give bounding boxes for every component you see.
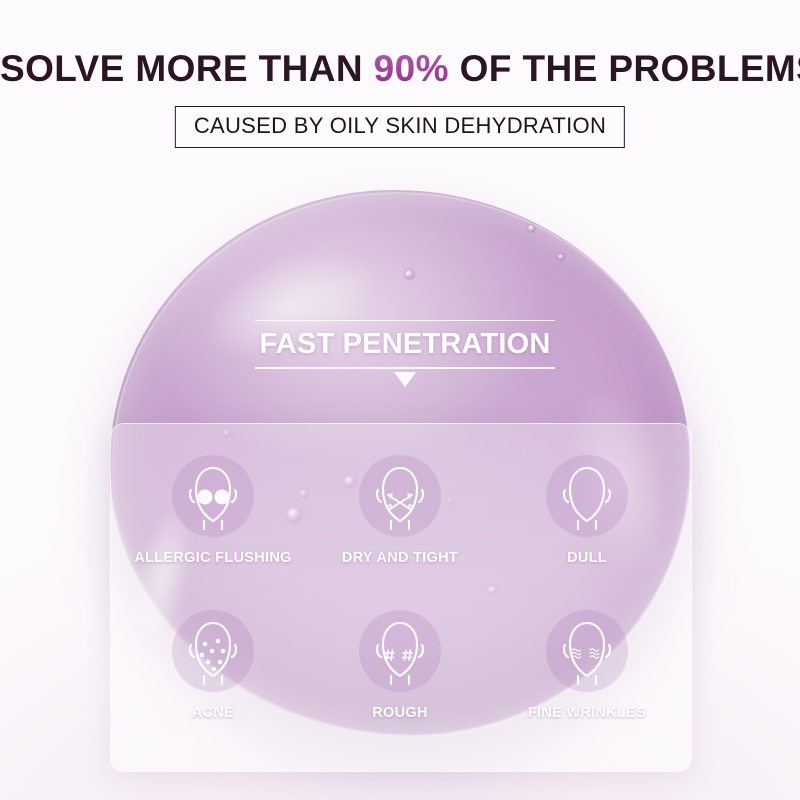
problem-label: ACNE bbox=[128, 705, 298, 721]
banner-label: FAST PENETRATION bbox=[255, 321, 555, 367]
down-triangle-icon bbox=[394, 372, 416, 387]
problem-label: ROUGH bbox=[315, 705, 485, 721]
bubble-icon bbox=[405, 270, 414, 279]
subtitle-text: CAUSED BY OILY SKIN DEHYDRATION bbox=[194, 113, 606, 138]
face-rough-hatch-icon bbox=[359, 610, 441, 692]
problem-label: FINE WRINKLES bbox=[502, 705, 672, 721]
problems-grid: ALLERGIC FLUSHING DRY AND TIGHT bbox=[110, 423, 690, 770]
face-plain-icon bbox=[546, 455, 628, 537]
fast-penetration-banner: FAST PENETRATION bbox=[255, 320, 555, 387]
problem-label: DRY AND TIGHT bbox=[315, 550, 485, 566]
headline-percent-accent: 90% bbox=[374, 48, 449, 89]
face-flushed-cheeks-icon bbox=[172, 455, 254, 537]
bubble-icon bbox=[558, 254, 564, 260]
problem-item-rough[interactable]: ROUGH bbox=[315, 610, 485, 721]
problem-item-dry-and-tight[interactable]: DRY AND TIGHT bbox=[315, 455, 485, 566]
bubble-icon bbox=[528, 225, 535, 232]
promo-canvas: SOLVE MORE THAN 90% OF THE PROBLEMS CAUS… bbox=[0, 0, 800, 800]
problem-item-allergic-flushing[interactable]: ALLERGIC FLUSHING bbox=[128, 455, 298, 566]
headline-prefix: SOLVE MORE THAN bbox=[0, 48, 374, 89]
page-title: SOLVE MORE THAN 90% OF THE PROBLEMS bbox=[0, 48, 800, 90]
face-tight-arrows-icon bbox=[359, 455, 441, 537]
problem-label: ALLERGIC FLUSHING bbox=[128, 550, 298, 566]
face-wrinkle-lines-icon bbox=[546, 610, 628, 692]
problem-item-dull[interactable]: DULL bbox=[502, 455, 672, 566]
headline-suffix: OF THE PROBLEMS bbox=[449, 48, 800, 89]
face-acne-dots-icon bbox=[172, 610, 254, 692]
banner-rule-bottom bbox=[255, 367, 555, 368]
problem-item-acne[interactable]: ACNE bbox=[128, 610, 298, 721]
subtitle-box: CAUSED BY OILY SKIN DEHYDRATION bbox=[175, 106, 625, 148]
problem-label: DULL bbox=[502, 550, 672, 566]
problem-item-fine-wrinkles[interactable]: FINE WRINKLES bbox=[502, 610, 672, 721]
